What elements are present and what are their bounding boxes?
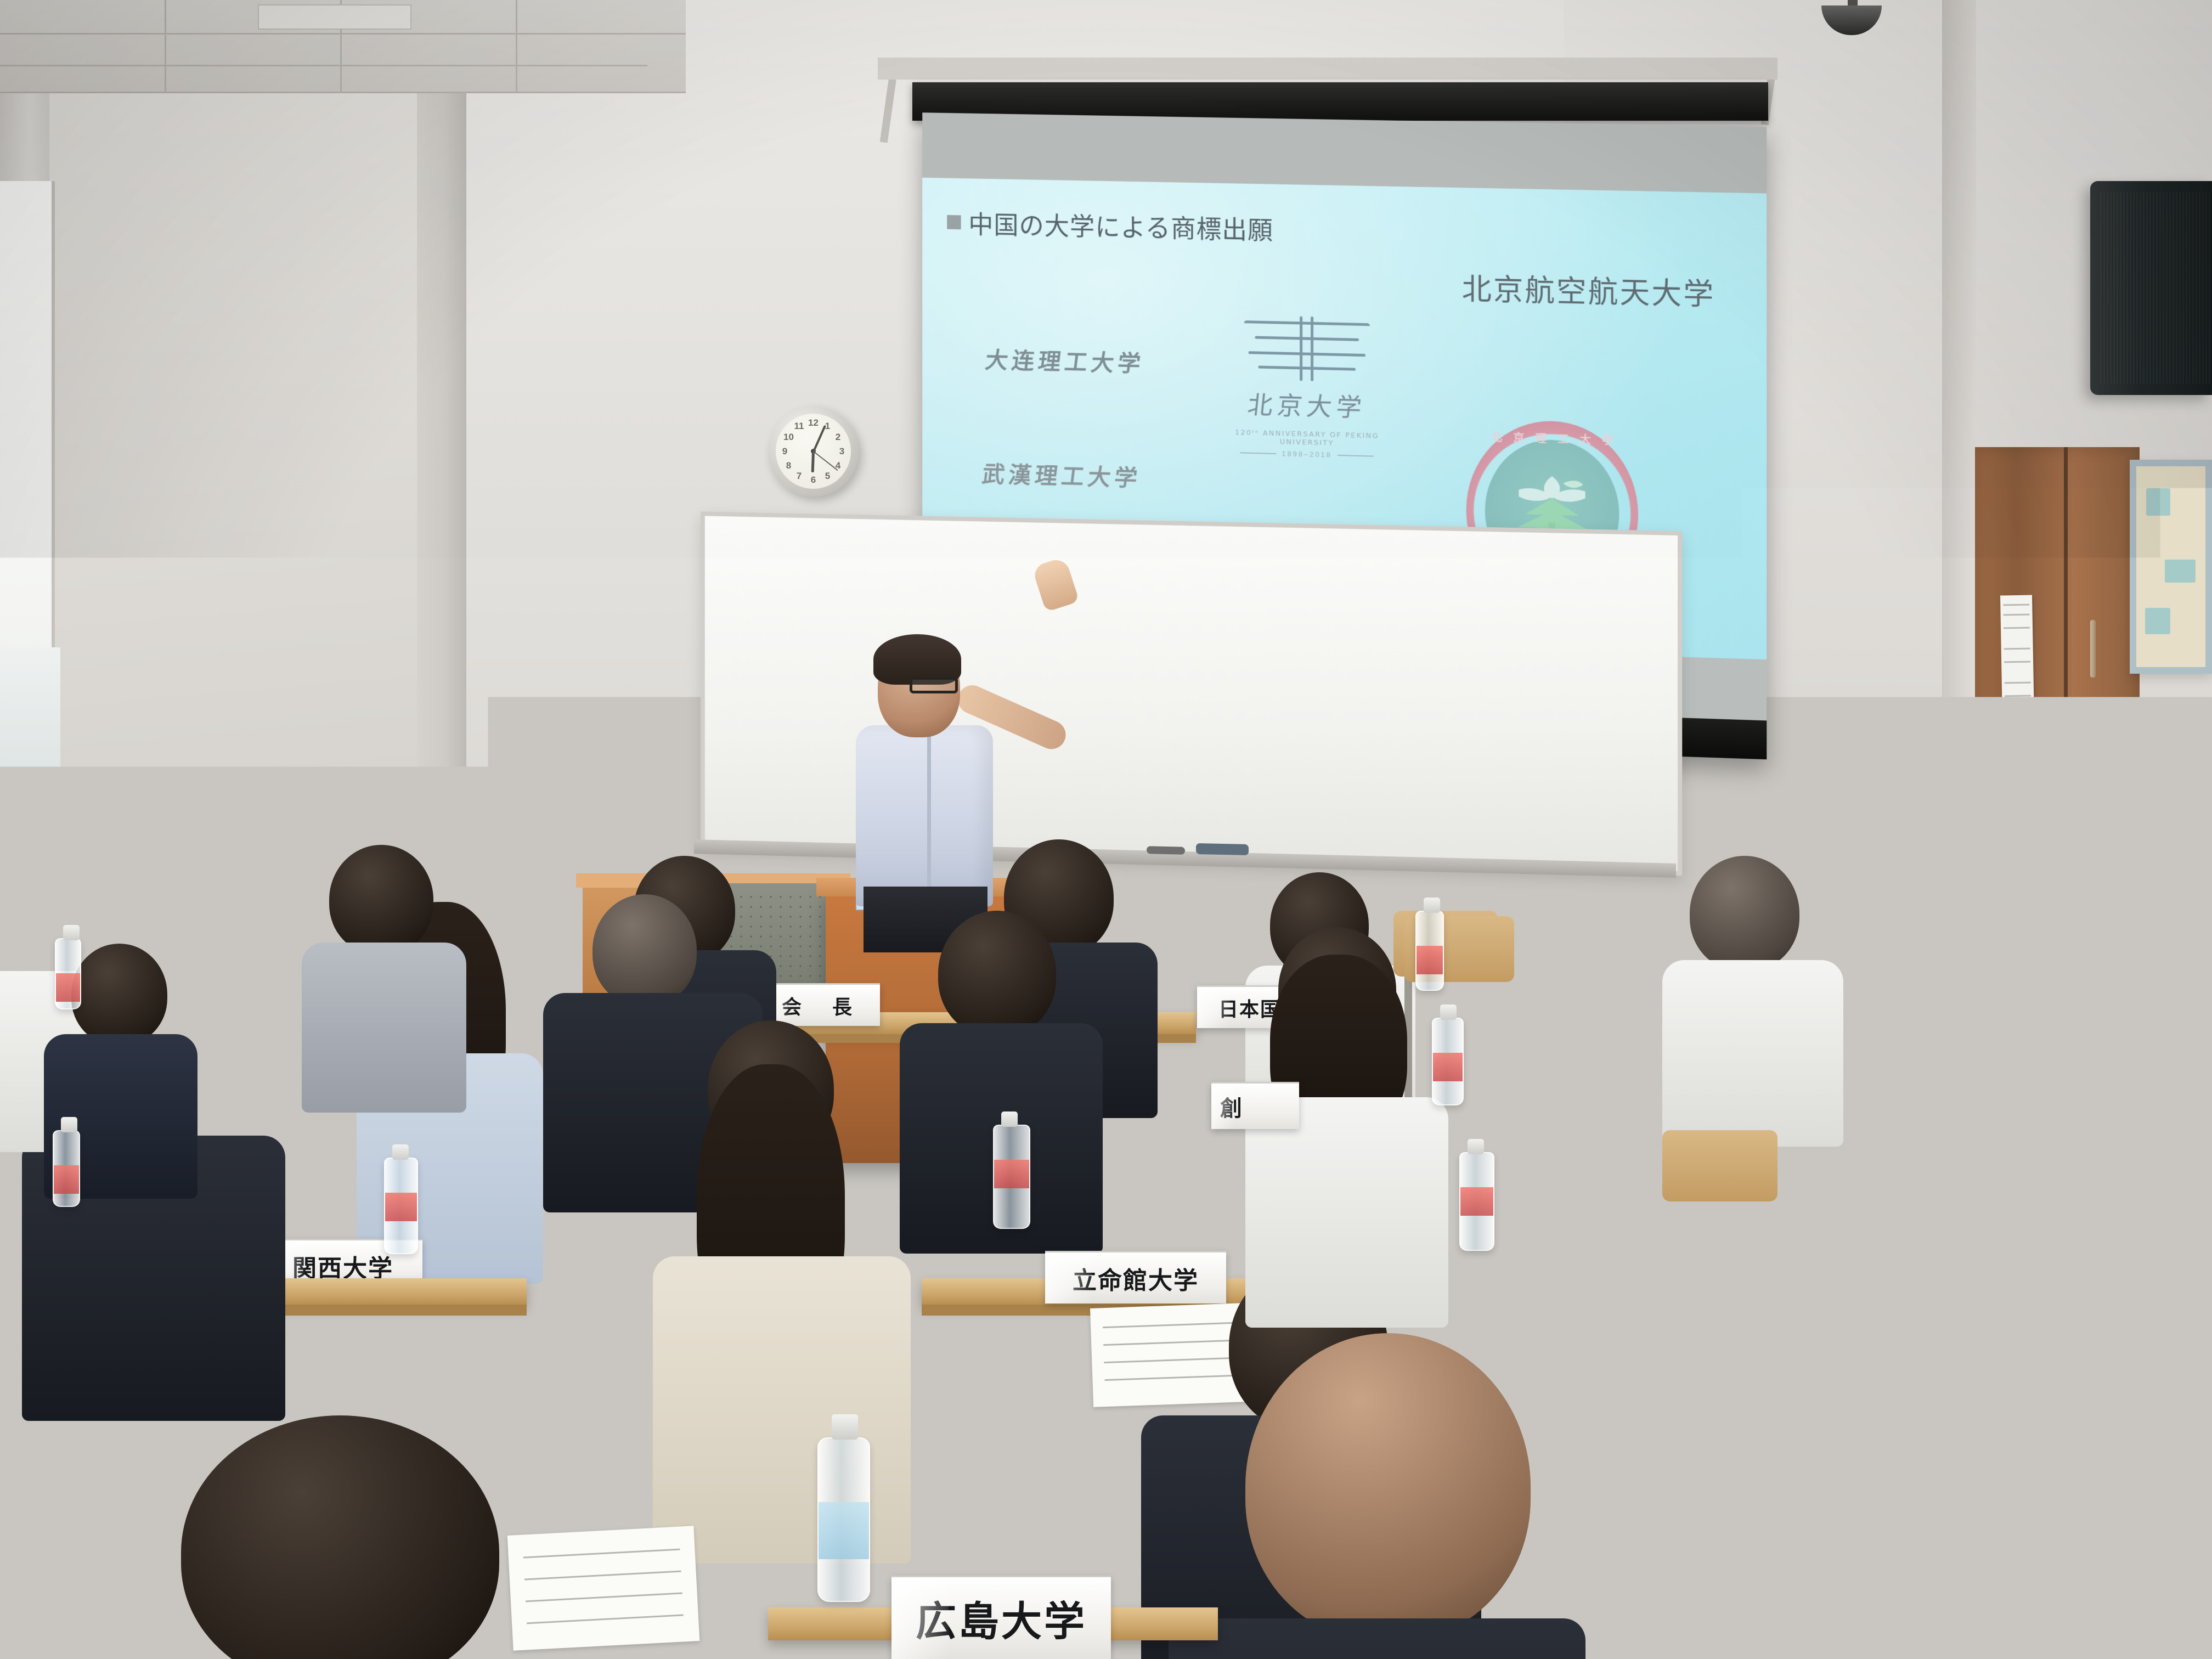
desk-lamp-stem [652,795,657,878]
water-bottle-2 [53,1130,80,1207]
square-bullet-icon [947,215,961,229]
name-plate-hiroshima: 広島大学 [891,1576,1111,1659]
desk-lamp [613,734,701,795]
wall-clock: 121234567891011 [768,406,859,496]
whiteboard-eraser [1196,843,1249,855]
wall-column [417,0,466,922]
slide-beihang-label: 北京航空航天大学 [1462,265,1716,314]
lecture-room-photo: 121234567891011 中国の大学による商標出願 北京航空航天大学 大连… [0,0,2212,1659]
pku-name-cn: 北京大学 [1223,385,1391,425]
name-plate-soka: 創 [1211,1082,1299,1129]
ceiling-tiles [0,0,686,93]
water-bottle-8 [1997,982,2025,1063]
pku-emblem-icon [1239,311,1375,385]
water-bottle-front [817,1437,870,1602]
name-plate-ritsumeikan: 立命館大学 [1045,1251,1226,1304]
pku-name-en: 120ᵗʰ ANNIVERSARY OF PEKING UNIVERSITY [1225,428,1389,449]
handout-front-left [507,1526,700,1651]
logo-wuhan-university-of-technology: 武漢理工大学 [980,456,1143,493]
ceiling-light-panel [258,4,411,30]
clock-numeral-12: 12 [808,417,819,428]
logo-peking-university: 北京大学 120ᵗʰ ANNIVERSARY OF PEKING UNIVERS… [1225,310,1389,460]
logo-dalian-university-of-technology: 大连理工大学 [984,342,1147,379]
security-camera-icon [1821,0,1887,36]
clock-numeral-10: 10 [783,432,794,443]
water-bottle-3 [384,1158,418,1254]
chair-right-b [1662,1130,1778,1201]
clock-numeral-8: 8 [786,460,791,471]
clock-numeral-1: 1 [825,421,830,432]
pku-years: 1898–2018 [1282,449,1332,459]
name-plate-chairman: 会 長 [759,983,880,1026]
left-window-lower [0,647,60,922]
presenter-shirt [856,725,993,906]
clock-numeral-4: 4 [836,460,840,471]
water-bottle-7 [1415,911,1444,991]
water-bottle-6 [1459,1152,1494,1251]
pku-anniversary-years-row: 1898–2018 [1225,448,1389,461]
door-posted-notice [2000,595,2034,723]
wall-speaker [2090,181,2212,395]
clock-numeral-7: 7 [797,471,802,482]
slide-heading: 中国の大学による商標出願 [968,205,1273,247]
water-bottle-1 [55,938,81,1009]
handout-center [1090,1303,1247,1407]
screen-mount-bar [878,58,1778,80]
water-bottle-5 [1432,1018,1464,1105]
water-bottle-4 [993,1125,1030,1229]
slide-heading-row: 中国の大学による商標出願 [947,204,1273,246]
clock-numeral-3: 3 [839,446,844,457]
door-handle[interactable] [2090,620,2096,678]
wall-power-outlet [2156,697,2208,752]
clock-numeral-11: 11 [794,421,804,432]
clock-numeral-6: 6 [811,475,816,486]
presenter-glasses-icon [910,677,958,693]
clock-numeral-5: 5 [825,471,830,482]
clock-numeral-2: 2 [836,432,840,443]
wall-notice-board [2130,460,2212,674]
whiteboard-marker [1147,846,1185,855]
clock-numeral-9: 9 [782,446,787,457]
